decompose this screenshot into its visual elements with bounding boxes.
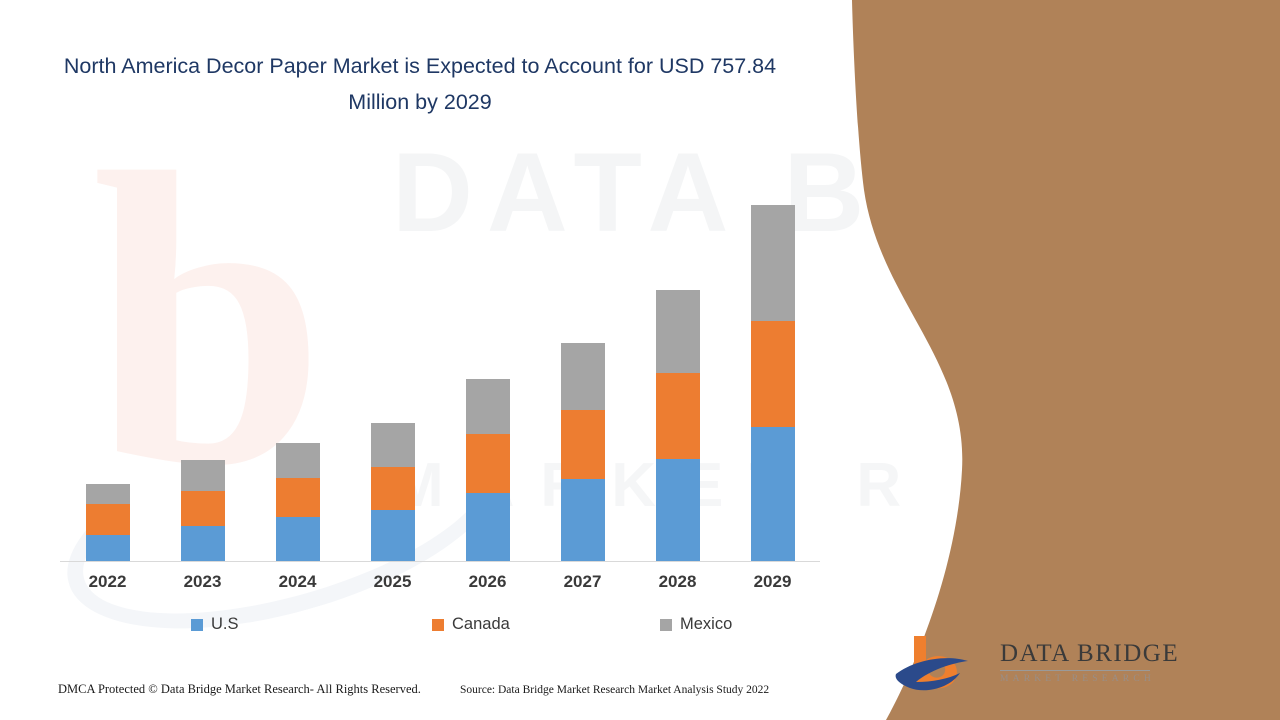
- x-tick-2027: 2027: [543, 572, 623, 592]
- bar-2026: [466, 379, 510, 561]
- legend-label: U.S: [211, 615, 239, 634]
- infographic-slide: b DATA BRIDGE MARKET RESEARCH North Amer…: [0, 0, 1280, 720]
- bar-segment-US-2028: [656, 459, 700, 561]
- bar-segment-Canada-2028: [656, 373, 700, 458]
- bar-segment-Mexico-2023: [181, 460, 225, 490]
- bar-segment-Canada-2029: [751, 321, 795, 426]
- bar-segment-US-2027: [561, 479, 605, 561]
- page-title: North America Decor Paper Market is Expe…: [60, 48, 780, 120]
- bar-segment-Canada-2023: [181, 491, 225, 527]
- bar-2027: [561, 343, 605, 561]
- legend-item-Mexico[interactable]: Mexico: [660, 615, 732, 634]
- logo-sub-text: MARKET RESEARCH: [1000, 674, 1179, 684]
- chart-pane: b DATA BRIDGE MARKET RESEARCH North Amer…: [0, 0, 900, 720]
- x-tick-2029: 2029: [733, 572, 813, 592]
- bar-segment-Canada-2022: [86, 504, 130, 535]
- bar-segment-US-2022: [86, 535, 130, 561]
- bar-segment-Mexico-2028: [656, 290, 700, 373]
- chart-legend: U.SCanadaMexico: [60, 615, 820, 645]
- bar-segment-Mexico-2022: [86, 484, 130, 504]
- bar-2024: [276, 443, 320, 561]
- bar-segment-Mexico-2024: [276, 443, 320, 479]
- bar-2025: [371, 423, 415, 561]
- bar-segment-US-2026: [466, 493, 510, 561]
- bar-2028: [656, 290, 700, 561]
- bar-segment-Mexico-2025: [371, 423, 415, 466]
- bar-segment-Mexico-2026: [466, 379, 510, 434]
- bar-2029: [751, 205, 795, 561]
- legend-label: Mexico: [680, 615, 732, 634]
- x-axis-tick-labels: 20222023202420252026202720282029: [60, 572, 820, 600]
- x-tick-2022: 2022: [68, 572, 148, 592]
- legend-swatch-icon: [432, 619, 444, 631]
- bar-segment-US-2025: [371, 510, 415, 561]
- legend-item-Canada[interactable]: Canada: [432, 615, 510, 634]
- bar-segment-Canada-2024: [276, 478, 320, 517]
- bar-segment-US-2023: [181, 526, 225, 561]
- bar-segment-Mexico-2029: [751, 205, 795, 322]
- bar-2022: [86, 484, 130, 561]
- x-tick-2023: 2023: [163, 572, 243, 592]
- logo-divider: [1000, 670, 1150, 671]
- logo-wordmark: DATA BRIDGE MARKET RESEARCH: [1000, 640, 1179, 684]
- bar-segment-Canada-2025: [371, 467, 415, 511]
- chart-plot-area: [60, 170, 820, 562]
- footer-copyright: DMCA Protected © Data Bridge Market Rese…: [58, 682, 421, 697]
- x-axis-line: [60, 561, 820, 562]
- right-panel-content: North America Decor Paper Market, By 202…: [900, 0, 1280, 720]
- bar-2023: [181, 460, 225, 561]
- x-tick-2026: 2026: [448, 572, 528, 592]
- bar-segment-Canada-2027: [561, 410, 605, 480]
- bar-segment-Canada-2026: [466, 434, 510, 494]
- legend-swatch-icon: [191, 619, 203, 631]
- stacked-bar-chart: [60, 170, 820, 562]
- legend-item-US[interactable]: U.S: [191, 615, 239, 634]
- x-tick-2028: 2028: [638, 572, 718, 592]
- x-tick-2024: 2024: [258, 572, 338, 592]
- legend-swatch-icon: [660, 619, 672, 631]
- bar-segment-US-2029: [751, 427, 795, 561]
- x-tick-2025: 2025: [353, 572, 433, 592]
- logo-main-text: DATA BRIDGE: [1000, 640, 1179, 668]
- footer-source: Source: Data Bridge Market Research Mark…: [460, 684, 769, 696]
- bar-segment-US-2024: [276, 517, 320, 561]
- legend-label: Canada: [452, 615, 510, 634]
- bar-segment-Mexico-2027: [561, 343, 605, 410]
